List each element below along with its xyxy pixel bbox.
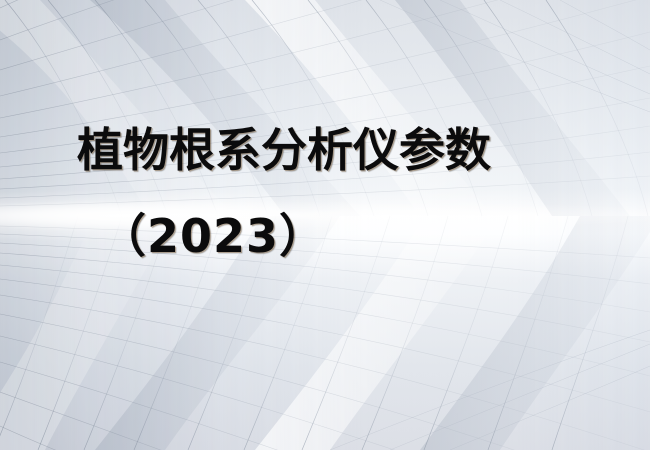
slide-title-line-2: （2023） [100, 212, 326, 262]
slide-title-block: 植物根系分析仪参数 （2023） [0, 0, 650, 450]
title-slide: 植物根系分析仪参数 （2023） [0, 0, 650, 450]
slide-title-line-1: 植物根系分析仪参数 [77, 126, 491, 176]
